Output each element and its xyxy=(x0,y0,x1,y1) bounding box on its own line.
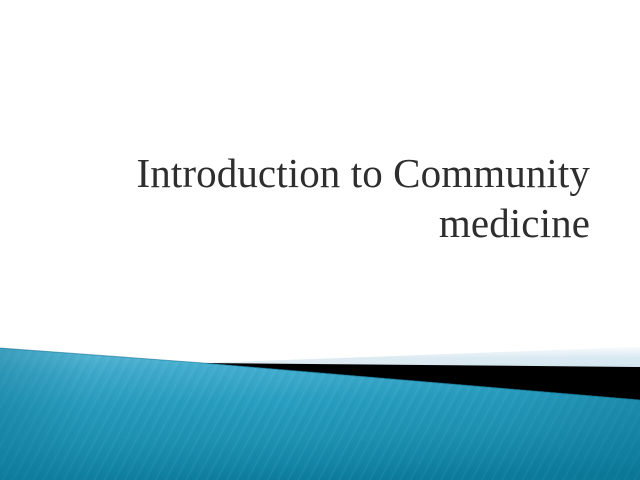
presentation-slide: Introduction to Community medicine xyxy=(0,0,640,480)
slide-title: Introduction to Community medicine xyxy=(60,148,590,248)
footer-decoration xyxy=(0,330,640,480)
decoration-svg xyxy=(0,330,640,480)
title-line-1: Introduction to Community xyxy=(60,148,590,198)
title-line-2: medicine xyxy=(60,198,590,248)
